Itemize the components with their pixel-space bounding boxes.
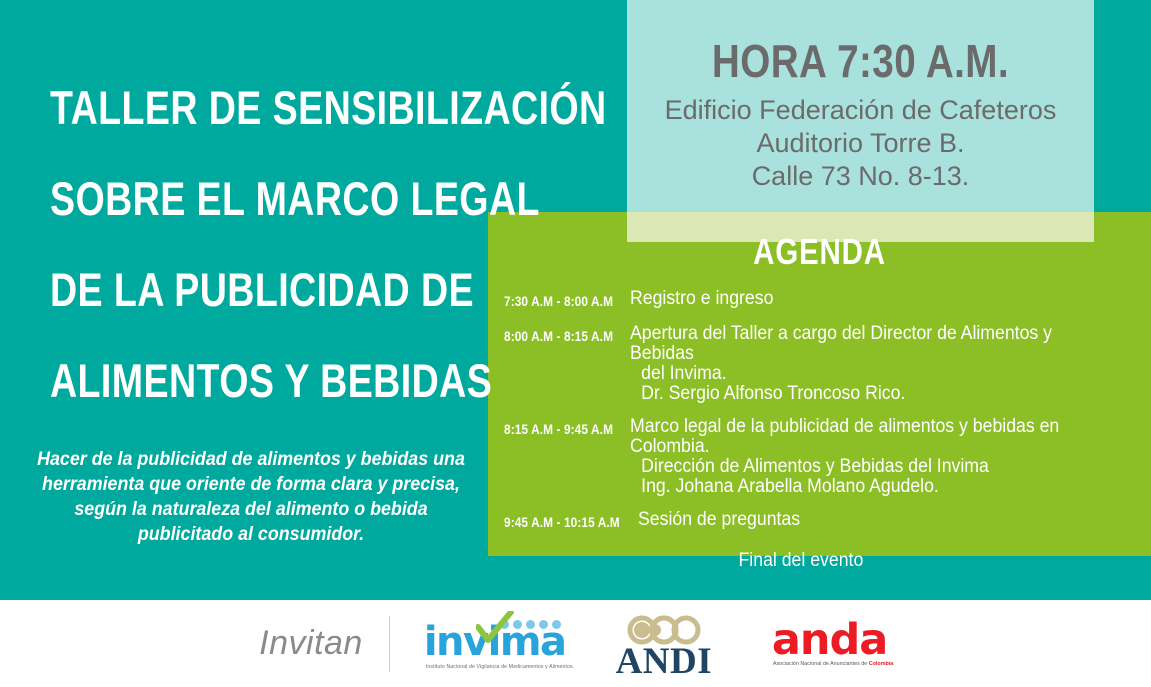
event-info-box: HORA 7:30 A.M. Edificio Federación de Ca…	[627, 0, 1094, 212]
title-block: TALLER DE SENSIBILIZACIÓN SOBRE EL MARCO…	[0, 62, 500, 426]
anda-logo: anda Asociación Nacional de Anunciantes …	[772, 615, 892, 673]
agenda-desc-sub: del Invima.	[630, 364, 1103, 384]
title-line-4: ALIMENTOS Y BEBIDAS	[50, 335, 450, 426]
anda-wordmark: anda	[772, 619, 887, 662]
anda-tagline-highlight: Colombia	[869, 661, 894, 667]
invima-tagline: Instituto Nacional de Vigilancia de Medi…	[426, 664, 574, 670]
agenda-row: 8:00 A.M - 8:15 A.M Apertura del Taller …	[504, 324, 1139, 404]
agenda-desc-sub: Ing. Johana Arabella Molano Agudelo.	[630, 477, 1103, 497]
agenda-description: Registro e ingreso	[630, 289, 1103, 309]
agenda-row: 8:15 A.M - 9:45 A.M Marco legal de la pu…	[504, 417, 1139, 497]
invitan-label: Invitan	[259, 624, 363, 663]
venue-line-3: Calle 73 No. 8-13.	[641, 160, 1080, 193]
agenda-row: 9:45 A.M - 10:15 A.M Sesión de preguntas	[504, 510, 1139, 532]
andi-logo: ANDI	[608, 613, 720, 675]
agenda-heading: AGENDA	[548, 231, 1092, 273]
title-line-1: TALLER DE SENSIBILIZACIÓN	[50, 62, 450, 153]
venue-line-1: Edificio Federación de Cafeteros	[641, 94, 1080, 127]
agenda-desc-sub: Dirección de Alimentos y Bebidas del Inv…	[630, 457, 1103, 477]
agenda-panel: AGENDA 7:30 A.M - 8:00 A.M Registro e in…	[488, 212, 1151, 556]
venue-line-2: Auditorio Torre B.	[641, 127, 1080, 160]
agenda-desc-main: Registro e ingreso	[630, 288, 773, 309]
footer: Invitan invima Instituto Nacional de Vig…	[0, 600, 1151, 687]
agenda-desc-main: Marco legal de la publicidad de alimento…	[630, 416, 1059, 457]
agenda-description: Sesión de preguntas	[638, 510, 1104, 530]
anda-tagline: Asociación Nacional de Anunciantes de Co…	[773, 661, 893, 667]
agenda-closing: Final del evento	[511, 550, 1128, 572]
agenda-time: 8:15 A.M - 9:45 A.M	[504, 417, 613, 439]
agenda-time: 7:30 A.M - 8:00 A.M	[504, 289, 613, 311]
agenda-list: 7:30 A.M - 8:00 A.M Registro e ingreso 8…	[488, 289, 1151, 532]
andi-wordmark: ANDI	[608, 643, 720, 680]
footer-divider	[389, 616, 390, 672]
agenda-desc-main: Apertura del Taller a cargo del Director…	[630, 323, 1052, 364]
agenda-description: Marco legal de la publicidad de alimento…	[630, 417, 1103, 497]
agenda-description: Apertura del Taller a cargo del Director…	[630, 324, 1103, 404]
agenda-desc-main: Sesión de preguntas	[638, 509, 800, 530]
agenda-desc-sub: Dr. Sergio Alfonso Troncoso Rico.	[630, 384, 1103, 404]
title-line-3: DE LA PUBLICIDAD DE	[50, 244, 450, 335]
poster-canvas: TALLER DE SENSIBILIZACIÓN SOBRE EL MARCO…	[0, 0, 1151, 687]
event-time: HORA 7:30 A.M.	[676, 38, 1045, 84]
agenda-time: 9:45 A.M - 10:15 A.M	[504, 510, 620, 532]
andi-loops-icon	[625, 615, 703, 645]
title-line-2: SOBRE EL MARCO LEGAL	[50, 153, 450, 244]
subtitle-text: Hacer de la publicidad de alimentos y be…	[26, 447, 475, 547]
agenda-row: 7:30 A.M - 8:00 A.M Registro e ingreso	[504, 289, 1139, 311]
invima-logo: invima Instituto Nacional de Vigilancia …	[424, 614, 564, 674]
anda-tagline-prefix: Asociación Nacional de Anunciantes de	[773, 661, 869, 667]
invima-check-icon	[476, 611, 514, 643]
agenda-time: 8:00 A.M - 8:15 A.M	[504, 324, 613, 346]
